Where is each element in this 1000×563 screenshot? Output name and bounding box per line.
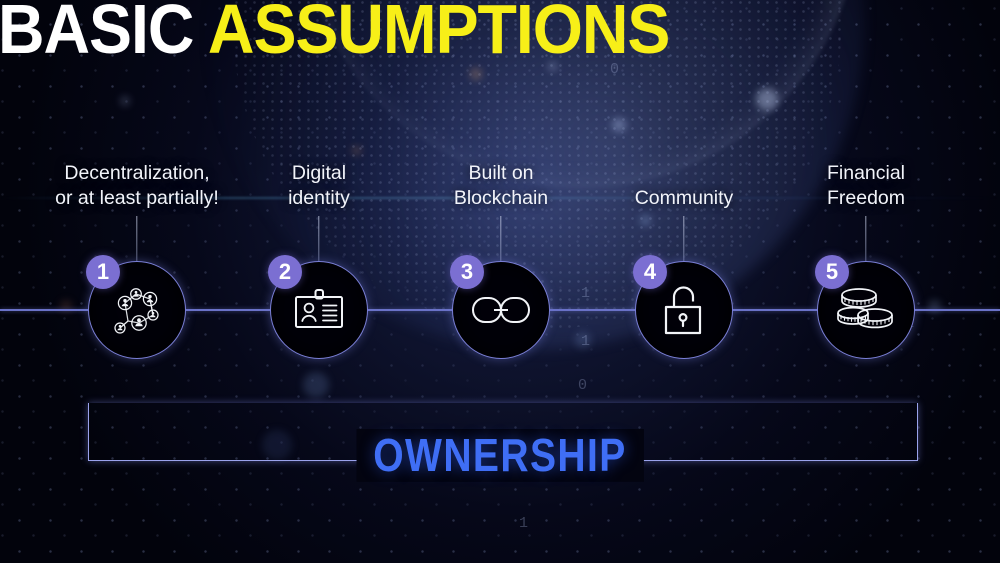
network-nodes-icon xyxy=(106,279,168,341)
step-label-3: Built on Blockchain xyxy=(454,161,548,211)
bokeh-particle xyxy=(928,300,941,313)
title-assumptions: ASSUMPTIONS xyxy=(208,0,669,69)
background-binary-digit: 0 xyxy=(578,377,587,394)
coin-stack-icon xyxy=(835,283,897,337)
background-binary-digit: 1 xyxy=(581,285,590,302)
bokeh-particle xyxy=(756,88,778,110)
bokeh-particle xyxy=(640,215,651,226)
step-label-5: Financial Freedom xyxy=(827,161,905,211)
bokeh-particle xyxy=(303,372,329,398)
step-label-1: Decentralization, or at least partially! xyxy=(55,161,219,211)
leader-line-4 xyxy=(683,216,684,262)
slide-canvas: 1 1 0 1 0 1 BASIC ASSUMPTIONS Decentrali… xyxy=(0,0,1000,563)
chain-link-icon xyxy=(470,290,532,330)
connector-right-stub xyxy=(914,309,1000,311)
background-binary-digit: 1 xyxy=(519,515,528,532)
step-badge-1: 1 xyxy=(86,255,120,289)
open-padlock-icon xyxy=(658,281,710,339)
step-label-2: Digital identity xyxy=(288,161,350,211)
ownership-label: OWNERSHIP xyxy=(357,429,644,482)
page-title: BASIC ASSUMPTIONS xyxy=(0,0,669,65)
connector-left-stub xyxy=(0,309,89,311)
leader-line-1 xyxy=(136,216,137,262)
leader-line-3 xyxy=(500,216,501,262)
title-basic: BASIC xyxy=(0,0,193,69)
step-label-4: Community xyxy=(635,186,734,211)
bokeh-particle xyxy=(120,96,130,106)
bokeh-particle xyxy=(470,68,482,80)
step-badge-2: 2 xyxy=(268,255,302,289)
step-badge-3: 3 xyxy=(450,255,484,289)
bokeh-particle xyxy=(352,146,361,155)
leader-line-5 xyxy=(865,216,866,262)
step-badge-4: 4 xyxy=(633,255,667,289)
id-card-icon xyxy=(290,281,348,339)
connector-4-5 xyxy=(732,309,818,311)
connector-2-3 xyxy=(367,309,453,311)
connector-1-2 xyxy=(185,309,271,311)
connector-3-4 xyxy=(549,309,636,311)
background-binary-digit: 1 xyxy=(581,333,590,350)
step-badge-5: 5 xyxy=(815,255,849,289)
bokeh-particle xyxy=(612,118,626,132)
leader-line-2 xyxy=(318,216,319,262)
